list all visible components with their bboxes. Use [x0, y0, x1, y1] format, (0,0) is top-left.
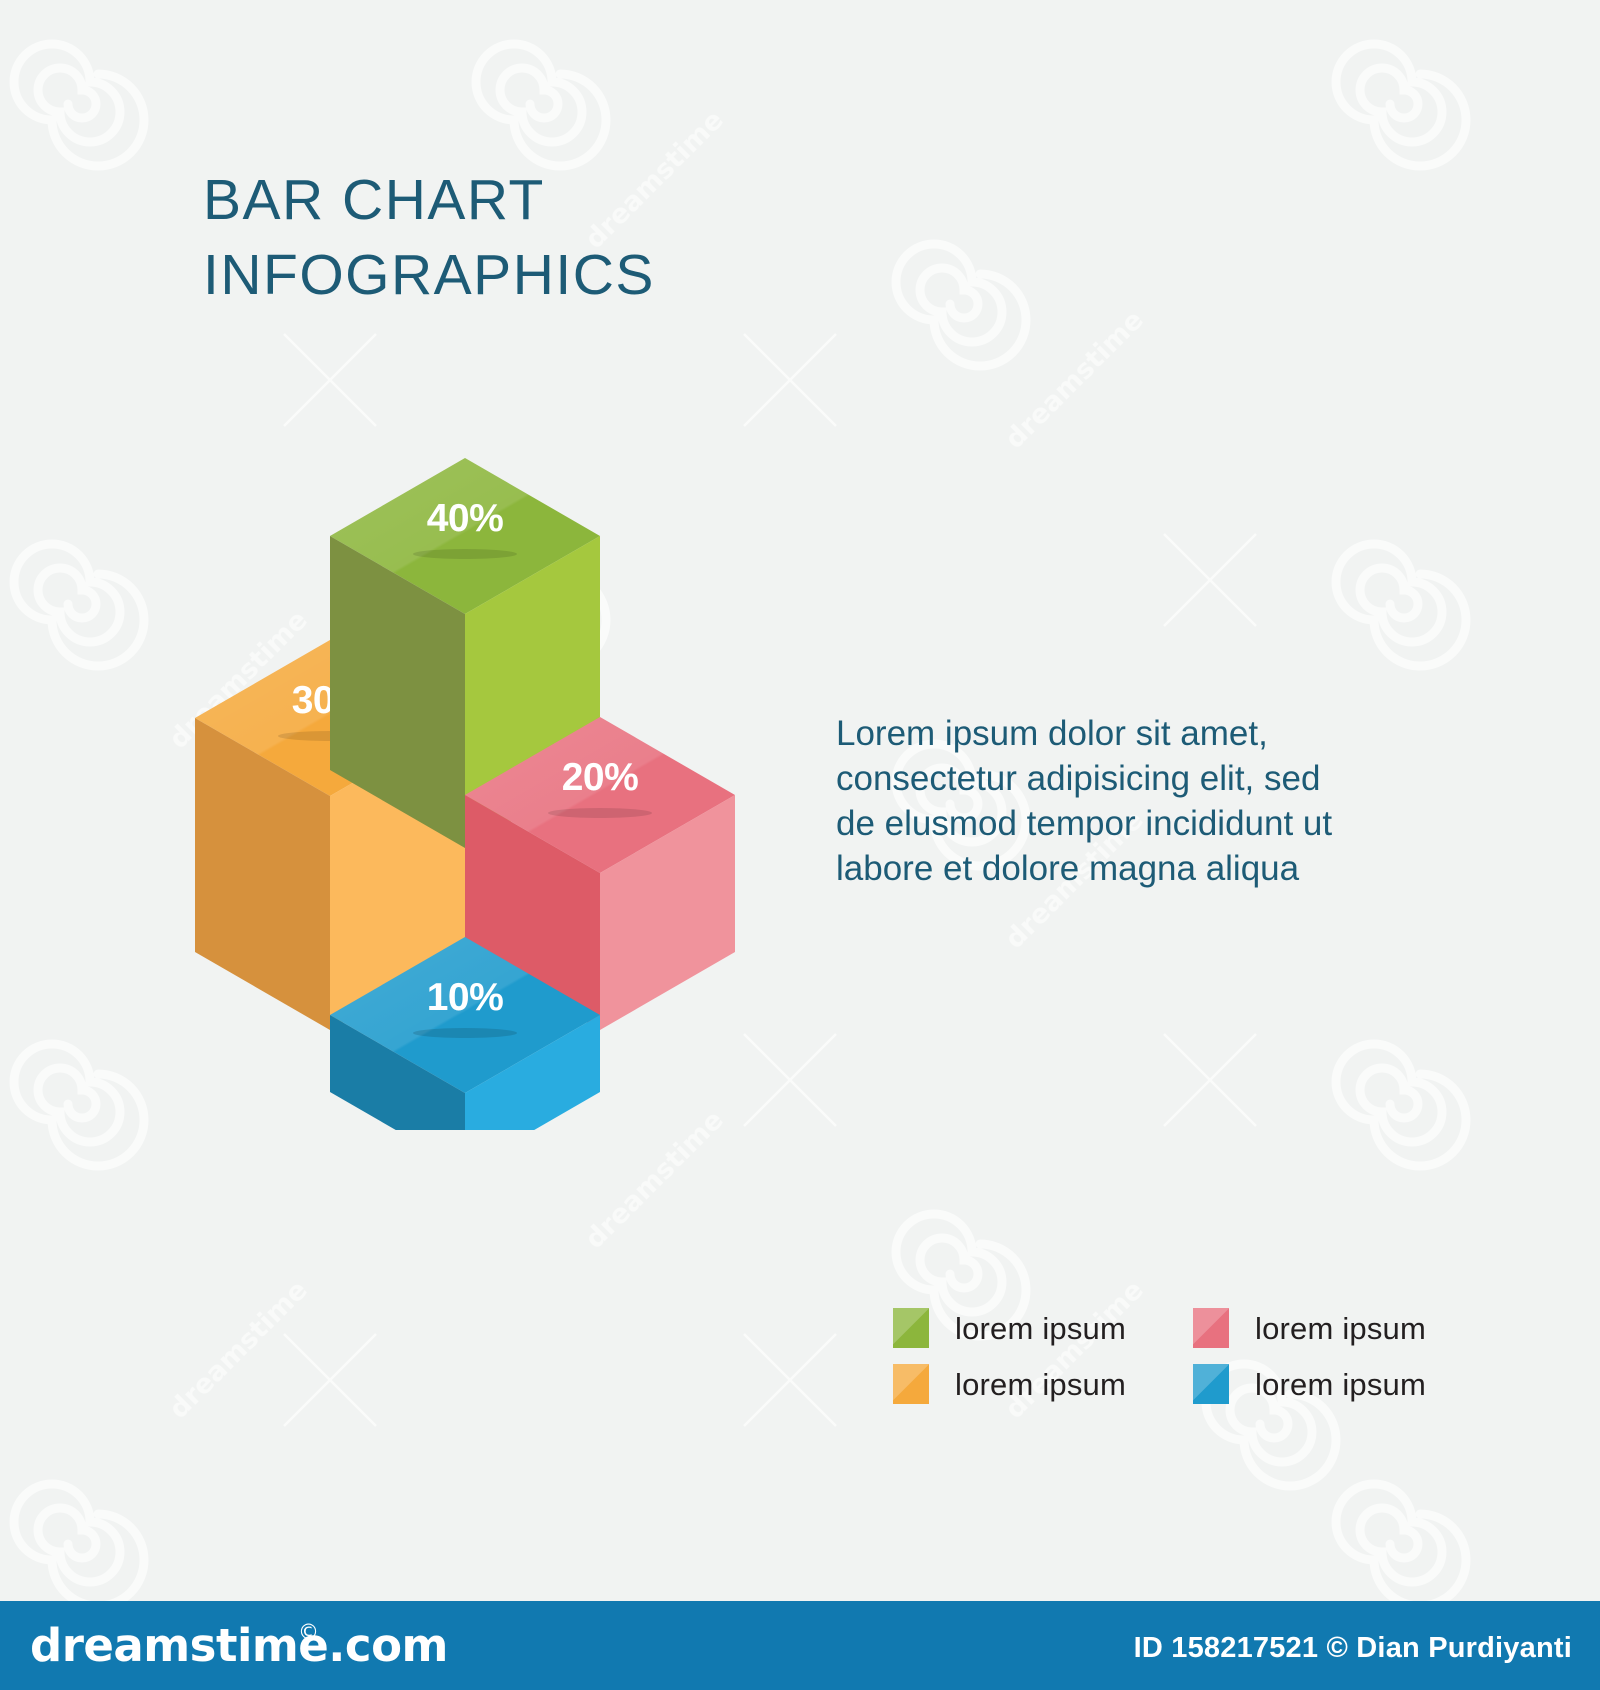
page-title: BAR CHART INFOGRAPHICS	[203, 163, 903, 313]
iso-bar-green-value: 40%	[427, 497, 504, 540]
legend-swatch-orange-icon	[893, 1364, 929, 1404]
legend-swatch-pink-icon	[1193, 1308, 1229, 1348]
legend-item-green[interactable]: lorem ipsum	[893, 1300, 1193, 1356]
page-title-line-2: INFOGRAPHICS	[203, 238, 903, 313]
legend-item-blue[interactable]: lorem ipsum	[1193, 1356, 1493, 1412]
legend-swatch-blue-icon	[1193, 1364, 1229, 1404]
legend-swatch-green-icon	[893, 1308, 929, 1348]
legend-label-orange: lorem ipsum	[955, 1369, 1126, 1400]
iso-bar-blue-value: 10%	[427, 976, 504, 1019]
legend-item-pink[interactable]: lorem ipsum	[1193, 1300, 1493, 1356]
lead-paragraph: Lorem ipsum dolor sit amet, consectetur …	[836, 711, 1336, 891]
dreamstime-logo[interactable]: dreamstime.com ©	[30, 1621, 448, 1671]
page-title-line-1: BAR CHART	[203, 163, 903, 238]
iso-bar-pink-value: 20%	[562, 756, 639, 799]
registered-mark-icon: ©	[298, 1607, 319, 1657]
chart-legend: lorem ipsum lorem ipsum lorem ipsum lore…	[893, 1300, 1413, 1412]
dreamstime-logo-text: dreamstime.com	[30, 1619, 448, 1672]
legend-item-orange[interactable]: lorem ipsum	[893, 1356, 1193, 1412]
isometric-bar-chart: 30% 40% 20%	[150, 430, 810, 1130]
legend-label-blue: lorem ipsum	[1255, 1369, 1426, 1400]
infographic-canvas: BAR CHART INFOGRAPHICS 30%	[0, 0, 1600, 1690]
image-credit: ID 158217521 © Dian Purdiyanti	[1134, 1632, 1572, 1665]
legend-label-green: lorem ipsum	[955, 1313, 1126, 1344]
stock-photo-footer: dreamstime.com © ID 158217521 © Dian Pur…	[0, 1601, 1600, 1690]
legend-label-pink: lorem ipsum	[1255, 1313, 1426, 1344]
